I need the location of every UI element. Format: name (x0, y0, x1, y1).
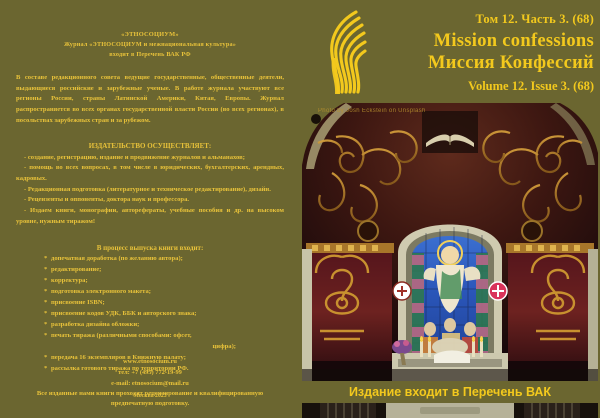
bullet-icon: * (44, 265, 51, 276)
process-list: *допечатная доработка (по желанию автора… (16, 254, 284, 374)
front-cover: Том 12. Часть 3. (68) Mission confession… (300, 0, 600, 418)
contacts-block: www.etnosocium.ru тел: +7 (495) 772-19-9… (0, 357, 300, 402)
website-link[interactable]: www.etnosocium.ru (0, 357, 300, 368)
vak-band: Издание входит в Перечень ВАК (300, 381, 600, 403)
process-item: *допечатная доработка (по желанию автора… (44, 254, 284, 265)
publisher-item: - Редакционная подготовка (литературное … (16, 185, 284, 196)
process-section-title: В процесс выпуска книги входит: (16, 244, 284, 252)
back-cover: «ЭТНОСОЦИУМ» Журнал «ЭТНОСОЦИУМ и межнац… (0, 0, 300, 418)
email-address[interactable]: e-mail: etnosocium@mail.ru (0, 379, 300, 390)
etnosocium-subtitle: Журнал «ЭТНОСОЦИУМ и межнациональная кул… (16, 40, 284, 50)
back-cover-header: «ЭТНОСОЦИУМ» Журнал «ЭТНОСОЦИУМ и межнац… (16, 30, 284, 59)
publisher-services-list: - создание, регистрацию, издание и продв… (16, 153, 284, 228)
city-year: Москва 2023 (0, 392, 300, 402)
journal-title-en: Mission confessions (374, 31, 594, 52)
process-item: *корректура; (44, 276, 284, 287)
publisher-item: - помощь во всех вопросах, в том числе в… (16, 163, 284, 184)
process-item-continuation: цифра); (44, 342, 284, 353)
process-item: *разработка дизайна обложки; (44, 320, 284, 331)
publisher-section-title: ИЗДАТЕЛЬСТВО ОСУЩЕСТВЛЯЕТ: (16, 142, 284, 150)
bullet-icon: * (44, 309, 51, 320)
cover-photo: Photo by Josh Eckstein on Unsplash (302, 103, 598, 381)
masthead: Том 12. Часть 3. (68) Mission confession… (300, 0, 600, 103)
bullet-icon: * (44, 276, 51, 287)
publisher-item: - Рецензенты и оппоненты, доктора наук и… (16, 195, 284, 206)
title-block: Том 12. Часть 3. (68) Mission confession… (374, 4, 594, 94)
bullet-icon: * (44, 287, 51, 298)
volume-en: Volume 12. Issue 3. (68) (374, 79, 594, 94)
bullet-icon: * (44, 320, 51, 331)
editorial-board-paragraph: В составе редакционного совета ведущие г… (16, 73, 284, 126)
bullet-icon: * (44, 331, 51, 342)
publisher-item: - создание, регистрацию, издание и продв… (16, 153, 284, 164)
volume-ru: Том 12. Часть 3. (68) (374, 12, 594, 27)
process-item: *присвоение кодов УДК, ББК и авторского … (44, 309, 284, 320)
process-item: *редактирование; (44, 265, 284, 276)
process-item: *подготовка электронного макета; (44, 287, 284, 298)
flame-logo-icon (316, 6, 372, 98)
phone-number: тел: +7 (495) 772-19-99 (0, 368, 300, 379)
etnosocium-title: «ЭТНОСОЦИУМ» (16, 30, 284, 40)
bullet-icon: * (44, 298, 51, 309)
bullet-icon: * (44, 254, 51, 265)
journal-title-ru: Миссия Конфессий (374, 53, 594, 74)
journal-cover: «ЭТНОСОЦИУМ» Журнал «ЭТНОСОЦИУМ и межнац… (0, 0, 600, 418)
publisher-item: - Издаем книги, монографии, авторефераты… (16, 206, 284, 227)
photo-credit: Photo by Josh Eckstein on Unsplash (318, 108, 426, 114)
bottom-photo-strip (302, 403, 598, 418)
process-item: *присвоение ISBN; (44, 298, 284, 309)
process-item: *печать тиража (различными способами: оф… (44, 331, 284, 342)
etnosocium-vak-note: входит в Перечень ВАК РФ (16, 50, 284, 60)
